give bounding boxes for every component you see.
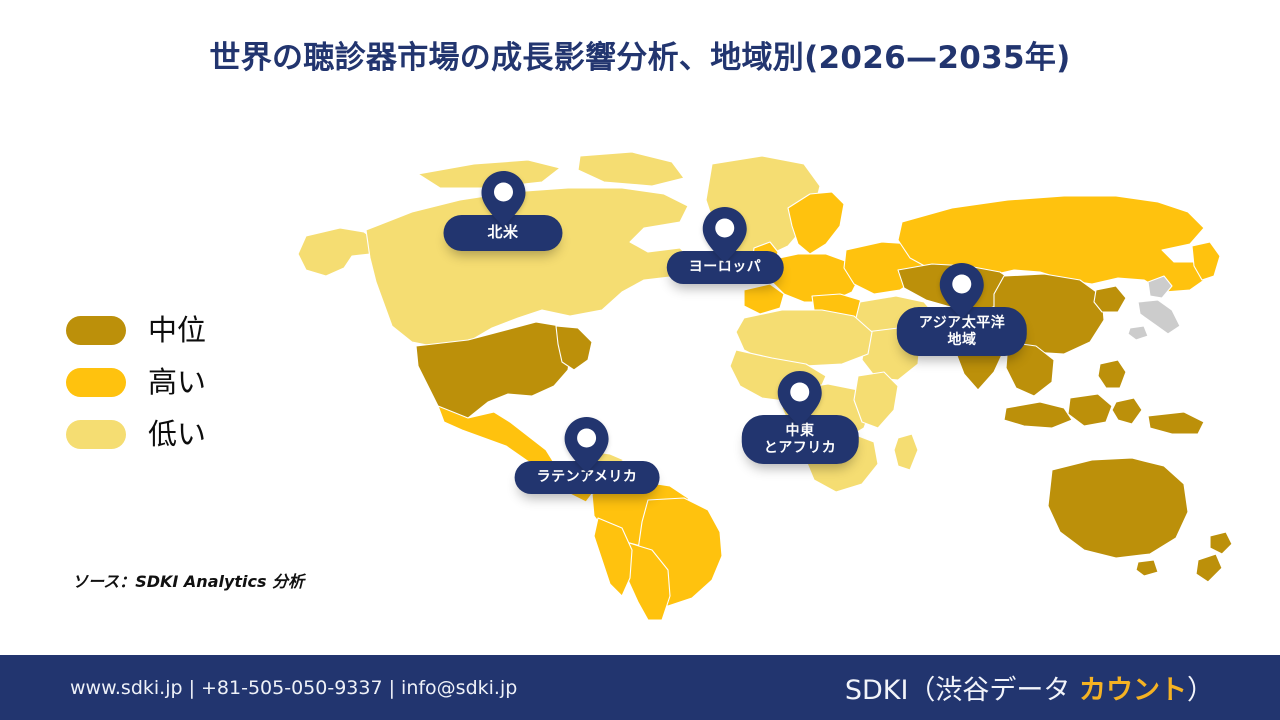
region-east-africa xyxy=(854,372,898,428)
slide-canvas: 世界の聴診器市場の成長影響分析、地域別(2026—2035年) 中位 高い 低い… xyxy=(0,0,1280,720)
region-canada-arctic-east xyxy=(578,152,684,186)
map-marker-north-america[interactable]: 北米 xyxy=(443,170,562,251)
footer-bar: www.sdki.jp | +81-505-050-9337 | info@sd… xyxy=(0,655,1280,720)
map-marker-middle-east-africa[interactable]: 中東 とアフリカ xyxy=(742,370,859,464)
map-pin-icon xyxy=(939,262,985,320)
map-pin-icon xyxy=(777,370,823,428)
map-marker-europe[interactable]: ヨーロッパ xyxy=(667,206,784,284)
footer-brand: SDKI（渋谷データ カウント） xyxy=(845,668,1214,707)
footer-contact[interactable]: www.sdki.jp | +81-505-050-9337 | info@sd… xyxy=(70,677,517,699)
region-australia xyxy=(1048,458,1188,558)
legend-item-low: 低い xyxy=(66,416,206,452)
region-sulawesi xyxy=(1112,398,1142,424)
region-papua-new-guinea xyxy=(1148,412,1204,434)
footer-brand-accent: カウント xyxy=(1079,675,1187,706)
legend: 中位 高い 低い xyxy=(66,312,206,452)
region-alaska xyxy=(298,228,378,276)
map-pin-icon xyxy=(480,170,526,228)
region-korea-ne xyxy=(1094,286,1126,312)
region-indonesia-west xyxy=(1004,402,1072,428)
footer-brand-tail: ） xyxy=(1187,675,1214,706)
map-pin-icon xyxy=(564,416,610,474)
legend-label-low: 低い xyxy=(148,420,206,449)
region-tasmania xyxy=(1136,560,1158,576)
map-pin-icon xyxy=(702,206,748,264)
region-philippines xyxy=(1098,360,1126,388)
legend-swatch-high xyxy=(66,368,126,397)
legend-swatch-medium xyxy=(66,316,126,345)
footer-brand-main: SDKI（渋谷データ xyxy=(845,675,1079,706)
legend-item-high: 高い xyxy=(66,364,206,400)
legend-label-medium: 中位 xyxy=(148,316,206,345)
map-marker-latin-america[interactable]: ラテンアメリカ xyxy=(515,416,660,494)
legend-item-medium: 中位 xyxy=(66,312,206,348)
region-new-zealand-north xyxy=(1210,532,1232,554)
world-map: 北米 ヨーロッパ アジア太平洋 地域 xyxy=(292,150,1252,620)
source-note: ソース：SDKI Analytics 分析 xyxy=(72,568,304,592)
legend-label-high: 高い xyxy=(148,368,206,397)
region-borneo xyxy=(1068,394,1112,426)
legend-swatch-low xyxy=(66,420,126,449)
region-new-zealand-south xyxy=(1196,554,1222,582)
region-japan-kyushu xyxy=(1128,326,1148,340)
map-marker-asia-pacific[interactable]: アジア太平洋 地域 xyxy=(897,262,1027,356)
page-title: 世界の聴診器市場の成長影響分析、地域別(2026—2035年) xyxy=(0,32,1280,77)
region-madagascar xyxy=(894,434,918,470)
